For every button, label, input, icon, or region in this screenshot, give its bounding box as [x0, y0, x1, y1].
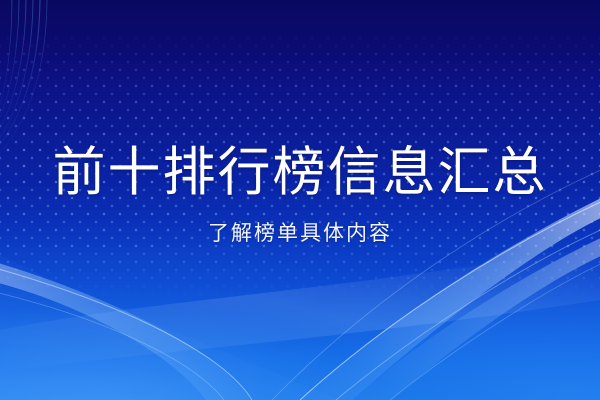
page-subtitle: 了解榜单具体内容 [0, 218, 600, 248]
title-block: 前十排行榜信息汇总 了解榜单具体内容 [0, 142, 600, 248]
page-title: 前十排行榜信息汇总 [0, 142, 600, 204]
corner-arc-lines [0, 0, 47, 158]
presentation-slide: 前十排行榜信息汇总 了解榜单具体内容 [0, 0, 600, 400]
